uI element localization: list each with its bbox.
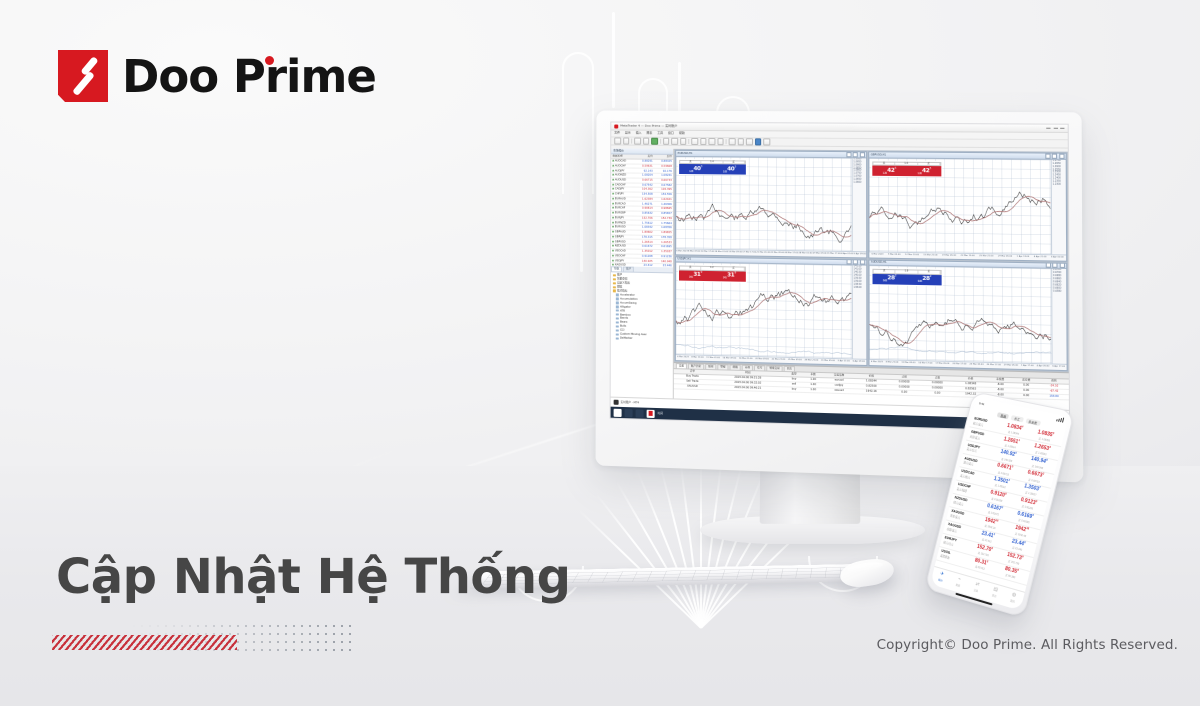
chart-y-axis: 1.27001.26501.26001.25501.25001.24501.24… [1051,159,1066,260]
x-tick: 11 Mar 09:00 [901,362,915,365]
list-item-label: DeMarker [620,337,633,341]
x-tick: 4 Apr 01:00 [841,253,853,256]
menu-item-tools[interactable]: 工具 [657,132,663,136]
app-workspace: 市场报价 商品名称 卖价 买价 AUDCAD0.882910.88325AUDC… [611,148,1069,431]
brand-wordmark: Doo Prime [122,54,376,99]
mt4-taskbar-icon[interactable] [647,409,655,417]
market-watch-panel[interactable]: 商品名称 卖价 买价 AUDCAD0.882910.88325AUDCHF0.5… [611,154,673,267]
red-hatch-decoration [52,635,237,650]
chart-y-axis: 0.67200.67000.66800.66600.66400.66200.66… [1051,269,1066,370]
profile-icon: ◍ [1011,592,1016,598]
x-tick: 28 Mar 21:00 [804,360,818,363]
chart-window[interactable]: EURUSD,H11.10001.09501.09001.08501.08001… [675,150,867,258]
price-quote-box[interactable]: 卖1.2买140.319140.319 [678,264,747,282]
cell-swap: 0.00 [1013,393,1039,399]
cell-symbol: xauusd [823,388,855,394]
expert-icon[interactable] [643,138,650,145]
chart-canvas[interactable]: 0.67200.67000.66800.66600.66400.66200.66… [869,266,1066,370]
quote-bid-label: 卖 [680,266,702,269]
navigator-tree[interactable]: 账户智能交易自定义指标脚本技术指标AcceleratorAccumulation… [611,272,673,341]
quote-values: 1.084031.08403 [679,164,746,175]
toolbar-separator [726,139,727,144]
y-tick: 138.00 [853,286,867,289]
menu-item-file[interactable]: 文件 [614,132,620,136]
x-tick: 6 Apr 09:00 [853,361,865,364]
x-tick: 17 Mar 05:00 [935,363,949,366]
tab-label: 资讯 [992,592,997,597]
folder-icon [613,282,616,284]
chart-symbol-label: EURUSD,H1 [678,152,693,155]
folder-icon [613,274,616,276]
tab-交易[interactable]: ⇄交易 [973,581,980,592]
x-tick: 16 Mar 21:00 [739,358,753,361]
x-tick: 17 Mar 17:00 [742,251,756,254]
document-icon [616,313,619,315]
toolbar-separator [660,139,661,144]
quotes-icon: ✈ [940,571,945,577]
x-tick: 26 Mar 17:00 [987,364,1001,367]
x-tick: 15 Mar 21:00 [923,254,937,257]
trade-icon: ⇄ [975,581,980,587]
folder-icon [613,286,616,288]
x-tick: 4 Apr 21:00 [1034,256,1047,259]
x-tick: 14 Mar 17:00 [918,362,932,365]
quote-ask-label: 买 [918,271,940,274]
x-tick: 4 Apr 05:00 [1037,365,1050,368]
x-tick: 1 Apr 17:00 [1021,365,1034,368]
x-tick: 28 Mar 01:00 [799,252,813,255]
x-tick: 9 Mar 05:00 [888,253,901,256]
app-title-text: MetaTrader 4 — Doo Prime — 实时账户 [620,124,677,128]
menu-item-view[interactable]: 显示 [625,132,631,136]
decorative-rule [52,622,352,656]
quote-spread: 1.2 [702,267,724,270]
task-view-icon[interactable] [636,409,644,417]
x-tick: 21 Mar 01:00 [756,251,770,254]
x-tick: 6 Apr 00:00 [1051,256,1064,259]
market-watch-table: 商品名称 卖价 买价 AUDCAD0.882910.88325AUDCHF0.5… [611,154,673,267]
x-tick: 5 Apr 09:00 [854,253,866,256]
x-tick: 6 Mar 2023 [677,356,689,359]
page-title: Cập Nhật Hệ Thống [56,549,570,605]
x-tick: 29 Mar 05:00 [1004,365,1018,368]
window-controls[interactable] [1046,128,1064,129]
document-icon [616,321,619,323]
chart-symbol-label: AUDUSD,H1 [871,261,887,264]
explorer-icon[interactable] [614,400,619,405]
menu-item-insert[interactable]: 插入 [636,132,642,136]
x-tick: 22 Mar 21:00 [772,359,786,362]
x-tick: 8 Mar 13:00 [691,357,703,360]
x-tick: 19 Mar 05:00 [942,254,956,257]
x-tick: 6 Mar 2023 [872,253,884,256]
terminal-tab[interactable]: 邮箱 [730,365,741,370]
quote-bid-value[interactable]: 1.08403 [679,164,712,174]
quote-values: 0.662820.66282 [872,274,941,286]
left-dock: 市场报价 商品名称 卖价 买价 AUDCAD0.882910.88325AUDC… [611,148,675,419]
chart-window[interactable]: USDJPY,H1141.50141.00140.50140.00139.501… [675,256,868,366]
quote-ask-label: 买 [723,267,745,270]
document-icon [616,309,619,311]
x-tick: 15 Mar 09:00 [728,251,742,254]
quote-ask-value[interactable]: 1.26425 [907,166,941,177]
y-tick: 0.6580 [1052,290,1066,293]
autoscroll-icon[interactable] [708,138,715,145]
x-tick: 6 Mar 2023 [871,361,883,364]
quote-spread: 1.6 [896,162,918,165]
price-quote-box[interactable]: 卖1.4买1.084031.08403 [678,158,747,175]
toolbar-separator [688,139,689,144]
app-icon [614,124,618,128]
help-icon[interactable] [755,139,762,146]
metatrader-app: MetaTrader 4 — Doo Prime — 实时账户 文件 显示 插入… [611,123,1069,432]
candle-chart-icon[interactable] [671,138,678,145]
document-icon [616,298,619,300]
x-tick: 22 Mar 09:00 [770,252,784,255]
period-icon[interactable] [737,138,744,145]
x-tick: 29 Mar 09:00 [813,252,827,255]
terminal-tab[interactable]: 市场 [742,365,753,370]
bar-chart-icon[interactable] [663,138,670,145]
list-item-label: Alligator [620,305,631,308]
tab-accounts[interactable]: 账户 [623,266,634,271]
x-tick: 6 Apr 17:00 [1052,366,1065,369]
cell-lots: 1.00 [803,387,823,393]
phone-time: 9:41 [979,401,985,406]
x-tick: 6 Mar 2023 [676,250,688,253]
list-item-label: 脚本 [617,286,622,289]
line-chart-icon[interactable] [680,138,687,145]
chart-canvas[interactable]: 141.50141.00140.50140.00139.50139.00138.… [676,262,867,365]
terminal-tab[interactable]: 日志 [784,366,795,371]
menu-item-charts[interactable]: 图表 [646,132,652,136]
chart-icon[interactable] [623,138,629,145]
cell-profit: 158.80 [1039,394,1069,400]
cell-type: buy [785,387,803,393]
segment-watchlist[interactable]: 自选 [997,412,1009,419]
cell-sl: 0.00 [888,389,921,395]
list-item-label: ATR [620,309,625,312]
document-icon [616,317,619,319]
new-order-icon[interactable] [614,138,620,145]
y-tick: 1.0600 [853,182,866,185]
tab-我的[interactable]: ◍我的 [1010,592,1017,603]
price-quote-box[interactable]: 卖1.6买1.264251.26425 [871,160,942,178]
tab-navigator[interactable]: 导航 [611,266,622,271]
promo-banner: Doo Prime MetaTrader 4 — Doo Prime — 实时账… [0,0,1200,706]
price-quote-box[interactable]: 卖1.8买0.662820.66282 [871,268,942,286]
document-icon [616,337,619,339]
menu-item-window[interactable]: 窗口 [668,132,674,136]
copyright-text: Copyright© Doo Prime. All Rights Reserve… [877,637,1178,653]
tab-图表[interactable]: ⌁图表 [956,576,963,587]
quote-spread: 1.8 [896,270,918,273]
document-icon [616,333,619,335]
quote-bid-label: 卖 [873,162,895,165]
quote-values: 1.264251.26425 [872,166,941,177]
quote-bid-value[interactable]: 1.26425 [872,166,906,177]
x-tick: 25 Mar 09:00 [788,359,802,362]
chart-y-axis: 1.10001.09501.09001.08501.08001.07501.07… [852,158,867,257]
right-dock: EURUSD,H11.10001.09501.09001.08501.08001… [674,149,1069,432]
cell-time: 2023.04.06 09:46:21 [711,385,785,392]
terminal-tab[interactable]: 新闻 [705,364,716,369]
start-icon[interactable] [614,408,622,416]
terminal-tab[interactable]: 智能交易 [766,365,782,371]
x-tick: 3 Apr 21:00 [838,360,850,363]
x-tick: 11 Mar 01:00 [706,357,720,360]
x-tick: 31 Mar 17:00 [827,252,841,255]
quote-values: 140.319140.319 [679,270,746,281]
cell-price: 1942.16 [855,388,888,394]
folder-icon [613,290,616,292]
x-tick: 22 Mar 13:00 [961,255,975,258]
quote-bid-label: 卖 [874,270,896,273]
x-tick: 14 Mar 09:00 [723,357,737,360]
quote-symbol: EURUSD欧元/美元 [973,417,999,430]
chart-window-controls[interactable] [846,260,864,265]
document-icon [616,294,619,296]
template-icon[interactable] [746,139,753,146]
document-icon [616,302,619,304]
terminal-tab[interactable]: 交易 [676,363,687,368]
x-tick: 8 Mar 21:00 [886,362,899,365]
list-item[interactable]: DeMarker [613,336,673,341]
taskbar-clock-label: 时间 [658,412,663,415]
tab-label: 我的 [1010,598,1016,603]
tab-label: 交易 [973,587,978,592]
quote-spread: 1.4 [702,161,724,164]
cell-order: XAUUSD [674,383,711,389]
market-watch-body: AUDCAD0.882910.88325AUDCHF0.596310.59668… [611,159,673,268]
document-icon [616,306,619,308]
tab-报价[interactable]: ✈报价 [938,571,945,582]
chart-canvas[interactable]: 1.27001.26501.26001.25501.25001.24501.24… [869,158,1066,260]
chart-y-axis: 141.50141.00140.50140.00139.50139.00138.… [852,265,867,365]
tab-label: 报价 [938,577,943,582]
quote-bid-value[interactable]: 0.66282 [872,274,906,285]
quote-symbol: USOIL美国原油 [940,550,966,564]
monitor-screen: MetaTrader 4 — Doo Prime — 实时账户 文件 显示 插入… [610,122,1071,433]
signal-icon [1056,416,1064,422]
menu-item-help[interactable]: 帮助 [679,132,685,136]
quote-ask-value[interactable]: 1.08403 [713,164,746,174]
x-tick: 29 Mar 05:00 [998,255,1012,258]
x-tick: 24 Mar 17:00 [785,252,799,255]
x-tick: 12 Mar 13:00 [905,254,919,257]
chart-window[interactable]: GBPUSD,H11.27001.26501.26001.25501.25001… [868,151,1067,261]
brand-logo[interactable]: Doo Prime [58,50,376,102]
chart-window[interactable]: AUDUSD,H10.67200.67000.66800.66600.66400… [868,259,1067,371]
terminal-tab[interactable]: 警报 [717,364,728,369]
os-window-label: 实时账户 - MT4 [621,401,639,405]
chart-window-controls[interactable] [1045,154,1064,159]
chart-window-controls[interactable] [846,152,864,157]
chart-window-controls[interactable] [1045,263,1064,268]
x-tick: 10 Mar 17:00 [701,250,715,253]
terminal-tab[interactable]: 信号 [754,365,765,370]
quote-ask-value[interactable]: 0.66282 [907,274,941,285]
toolbar-separator [631,139,632,144]
doo-prime-logo-icon [58,50,108,102]
quote-ask-label: 买 [918,162,940,165]
document-icon [616,325,619,327]
x-tick: 14 Mar 01:00 [715,251,729,254]
x-tick: 23 Mar 05:00 [969,364,983,367]
quote-ask-label: 买 [723,161,745,164]
quote-bid-value[interactable]: 140.319 [679,270,712,281]
indicators-icon[interactable] [729,138,736,145]
tab-资讯[interactable]: ▤资讯 [992,587,999,598]
chart-symbol-label: USDJPY,H1 [678,258,691,261]
tab-label: 图表 [956,582,961,587]
y-tick: 1.2300 [1052,184,1066,187]
autotrading-icon[interactable] [634,138,640,145]
chart-grid: EURUSD,H11.10001.09501.09001.08501.08001… [674,149,1069,372]
terminal-tab[interactable]: 账户历史 [688,363,704,368]
document-icon [616,329,619,331]
zoom-out-icon[interactable] [700,138,707,145]
zoom-in-icon[interactable] [691,138,698,145]
x-tick: 20 Mar 09:00 [755,358,769,361]
cell-tp: 0.00 [921,390,954,396]
chart-canvas[interactable]: 1.10001.09501.09001.08501.08001.07501.07… [676,156,866,257]
quote-ask-value[interactable]: 140.319 [713,271,746,282]
segment-forex[interactable]: 外汇 [1011,415,1023,422]
logo-accent-dot [265,56,274,65]
x-tick: 1 Apr 13:00 [1017,255,1030,258]
search-icon[interactable] [625,409,633,417]
x-tick: 20 Mar 17:00 [952,363,966,366]
x-tick: 31 Mar 09:00 [821,360,835,363]
grid-icon[interactable] [717,138,724,145]
x-tick: 25 Mar 21:00 [979,255,993,258]
settings-icon[interactable] [763,139,770,146]
chart-symbol-label: GBPUSD,H1 [871,153,886,156]
chart-icon: ⌁ [958,577,962,583]
folder-icon [613,278,616,280]
quote-bid-label: 卖 [680,160,701,163]
x-tick: 8 Mar 09:00 [688,250,700,253]
list-item-label: 技术指标 [617,289,627,292]
new-order-green-icon[interactable] [651,138,658,145]
